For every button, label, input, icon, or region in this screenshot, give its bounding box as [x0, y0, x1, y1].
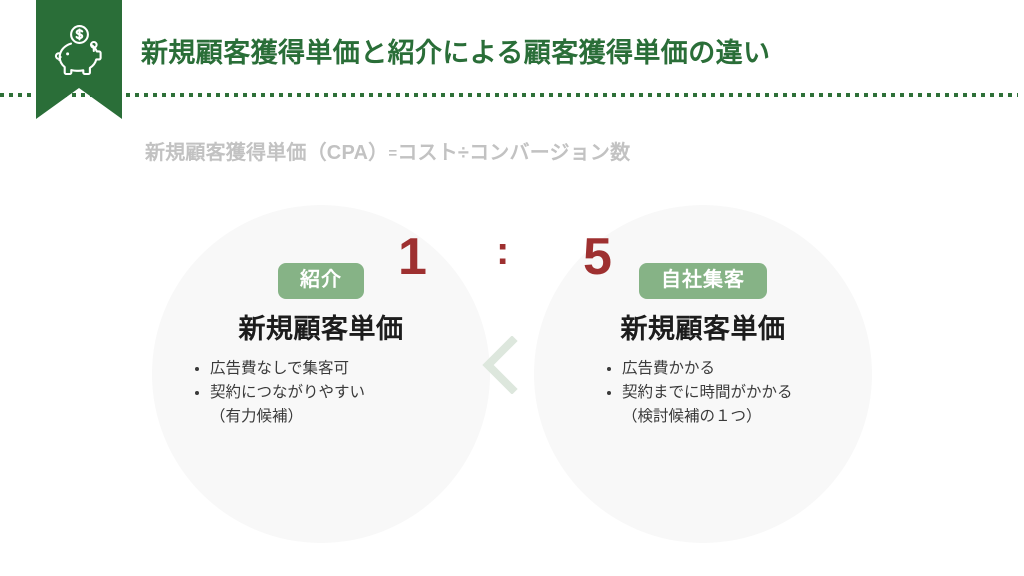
cpa-formula-left: 新規顧客獲得単価（CPA） — [145, 142, 388, 164]
ratio-separator: : — [496, 231, 509, 271]
referral-heading: 新規顧客単価 — [239, 313, 404, 345]
ratio-right-value: 5 — [583, 231, 612, 283]
cpa-formula: 新規顧客獲得単価（CPA）=コスト÷コンバージョン数 — [145, 136, 630, 165]
referral-panel: 紹介 新規顧客単価 広告費なしで集客可 契約につながりやすい （有力候補） — [152, 205, 490, 543]
ratio-left-value: 1 — [398, 231, 427, 283]
owned-acquisition-heading: 新規顧客単価 — [621, 313, 786, 345]
list-item: （検討候補の１つ） — [606, 405, 793, 429]
owned-acquisition-bullet-list: 広告費かかる 契約までに時間がかかる （検討候補の１つ） — [606, 357, 793, 429]
cpa-formula-equals: = — [388, 145, 397, 162]
list-item: 契約までに時間がかかる — [606, 381, 793, 405]
list-item: 広告費なしで集客可 — [194, 357, 365, 381]
piggy-bank-icon — [49, 23, 109, 79]
list-item: 広告費かかる — [606, 357, 793, 381]
cpa-formula-right: コスト÷コンバージョン数 — [397, 142, 630, 164]
referral-bullet-list: 広告費なしで集客可 契約につながりやすい （有力候補） — [194, 357, 365, 429]
status-badge-referral: 紹介 — [278, 263, 364, 299]
header-dotted-divider — [0, 93, 1018, 97]
list-item: 契約につながりやすい — [194, 381, 365, 405]
less-than-icon — [479, 336, 521, 394]
page-title: 新規顧客獲得単価と紹介による顧客獲得単価の違い — [141, 31, 770, 70]
slide-canvas: 新規顧客獲得単価と紹介による顧客獲得単価の違い 新規顧客獲得単価（CPA）=コス… — [0, 0, 1024, 576]
status-badge-owned-acquisition: 自社集客 — [639, 263, 767, 299]
list-item: （有力候補） — [194, 405, 365, 429]
